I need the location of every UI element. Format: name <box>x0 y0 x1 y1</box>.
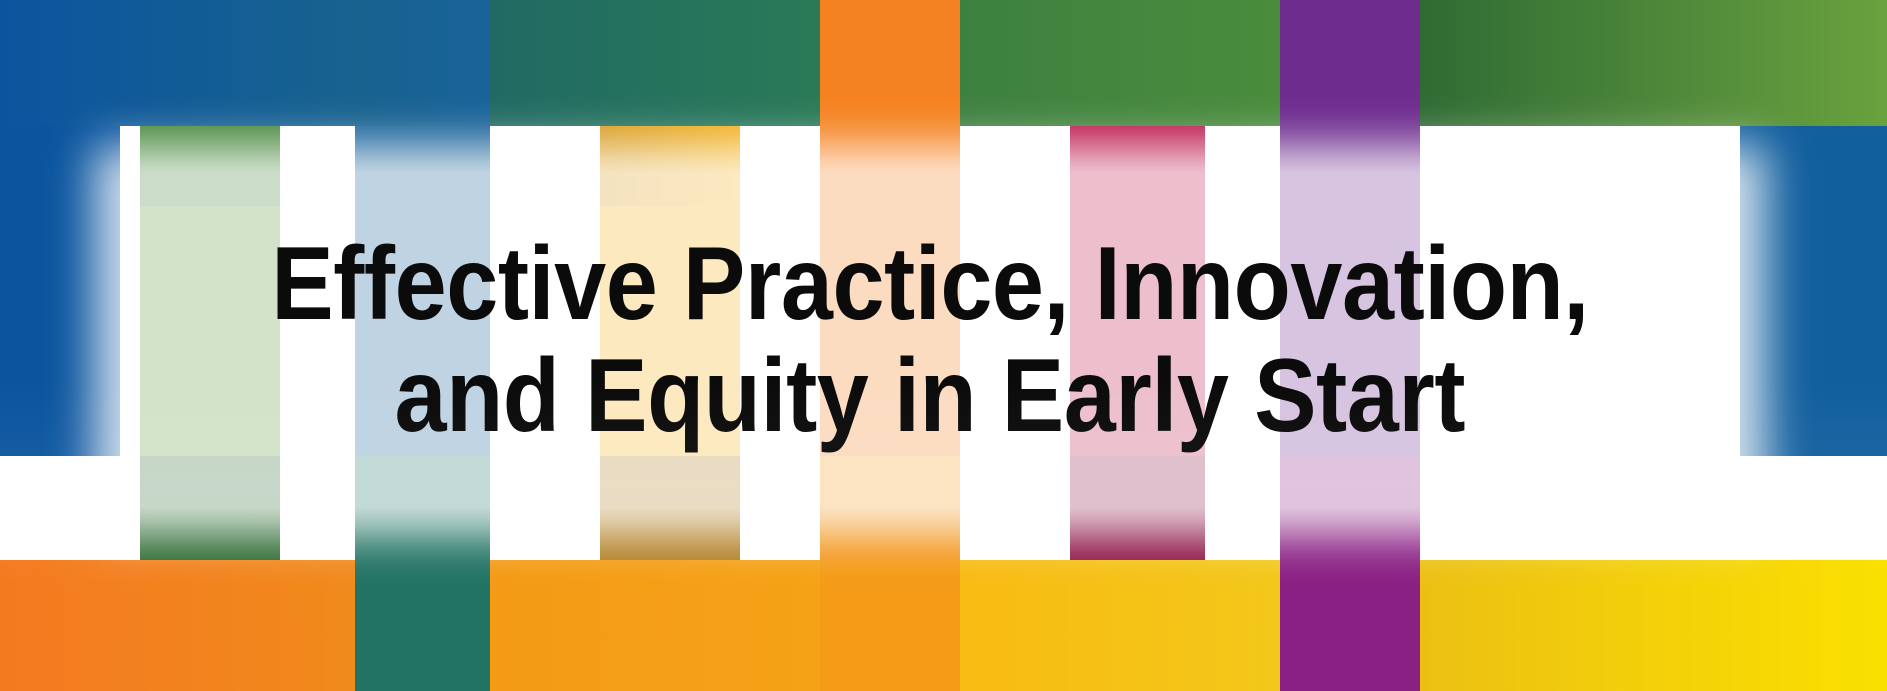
color-block <box>1420 560 1887 691</box>
color-block <box>1740 206 1887 456</box>
banner-title: Effective Practice, Innovation, and Equi… <box>120 172 1740 508</box>
color-block <box>355 0 490 126</box>
color-block <box>490 0 820 126</box>
title-line-1: Effective Practice, Innovation, <box>271 228 1589 340</box>
color-block <box>0 206 120 456</box>
color-block <box>1740 126 1887 206</box>
bottom-color-row <box>0 560 1887 691</box>
color-block <box>960 0 1280 126</box>
color-block <box>355 560 490 691</box>
conference-banner: Effective Practice, Innovation, and Equi… <box>0 0 1887 691</box>
color-block <box>1280 0 1420 126</box>
color-block <box>0 0 355 126</box>
color-block <box>0 126 120 206</box>
top-color-row <box>0 0 1887 126</box>
color-block <box>1420 0 1887 126</box>
title-line-2: and Equity in Early Start <box>395 340 1466 452</box>
color-block <box>820 560 960 691</box>
color-block <box>0 560 355 691</box>
color-block <box>960 560 1280 691</box>
color-block <box>820 0 960 126</box>
color-block <box>1280 560 1420 691</box>
color-block <box>490 560 820 691</box>
